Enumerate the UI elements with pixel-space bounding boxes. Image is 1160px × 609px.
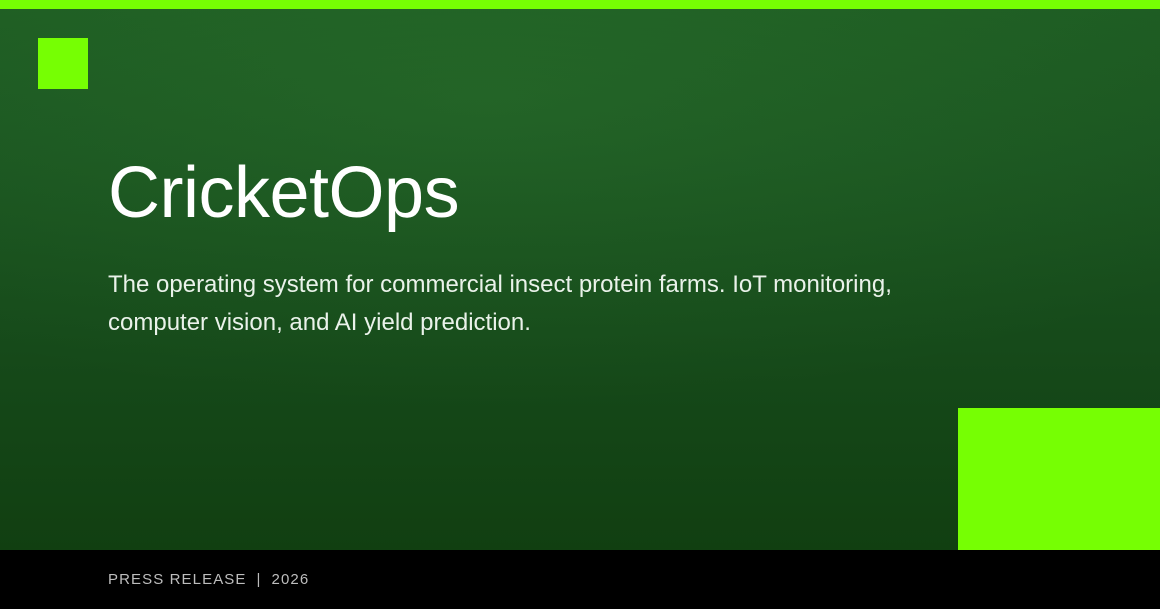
- accent-block-shape: [958, 408, 1160, 550]
- slide-footer: PRESS RELEASE | 2026: [0, 550, 1160, 609]
- slide-stage: CricketOps The operating system for comm…: [0, 0, 1160, 550]
- presentation-slide: CricketOps The operating system for comm…: [0, 0, 1160, 609]
- footer-meta: PRESS RELEASE | 2026: [108, 550, 309, 609]
- top-accent-bar: [0, 0, 1160, 9]
- footer-year: 2026: [272, 571, 310, 589]
- page-title: CricketOps: [108, 150, 908, 236]
- footer-label: PRESS RELEASE: [108, 571, 247, 589]
- hero-subtitle: The operating system for commercial inse…: [108, 266, 898, 342]
- hero-content: CricketOps The operating system for comm…: [108, 150, 908, 342]
- accent-square-icon: [38, 38, 88, 89]
- footer-separator: |: [247, 571, 272, 589]
